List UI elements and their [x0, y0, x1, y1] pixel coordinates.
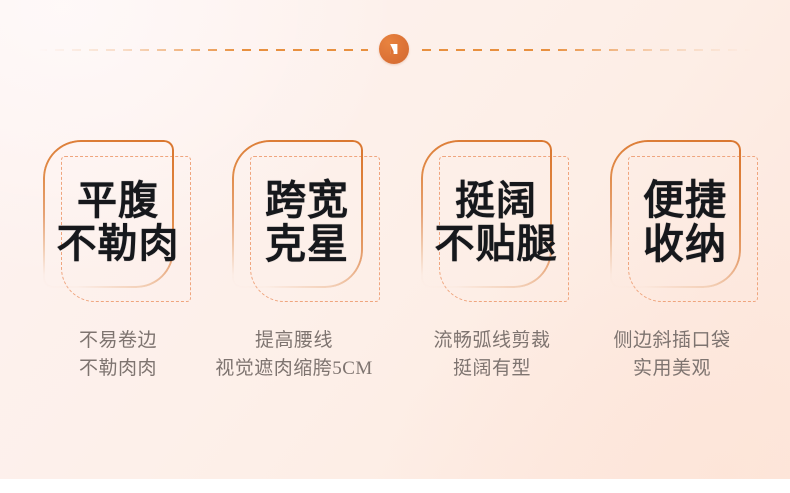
card-caption: 侧边斜插口袋 实用美观 [574, 327, 770, 383]
card-title-line-2: 克星 [265, 223, 349, 266]
feature-card: 便捷 收纳 [610, 140, 760, 305]
bottom-white-strip [0, 479, 790, 493]
card-title-line-1: 平腹 [77, 180, 159, 222]
card-caption: 提高腰线 视觉遮肉缩胯5CM [196, 327, 392, 383]
card-title: 跨宽 克星 [232, 140, 382, 305]
card-caption: 不易卷边 不勒肉肉 [20, 327, 216, 383]
caption-line-2: 不勒肉肉 [20, 355, 216, 383]
card-title: 挺阔 不贴腿 [421, 140, 571, 305]
caption-line-1: 流畅弧线剪裁 [394, 327, 590, 355]
caption-line-2: 挺阔有型 [394, 355, 590, 383]
caption-row: 不易卷边 不勒肉肉 提高腰线 视觉遮肉缩胯5CM 流畅弧线剪裁 挺阔有型 侧边斜… [0, 327, 790, 399]
caption-line-2: 实用美观 [574, 355, 770, 383]
promo-banner: 平腹 不勒肉 跨宽 克星 挺阔 不贴腿 便捷 收纳 [0, 0, 790, 493]
caption-line-1: 侧边斜插口袋 [574, 327, 770, 355]
card-title: 平腹 不勒肉 [43, 140, 193, 305]
page-fold-icon [379, 34, 409, 64]
card-title: 便捷 收纳 [610, 140, 760, 305]
divider-dash-right [422, 49, 752, 51]
caption-line-1: 不易卷边 [20, 327, 216, 355]
card-title-line-2: 不勒肉 [57, 223, 180, 265]
card-title-line-1: 挺阔 [455, 180, 537, 222]
card-title-line-1: 跨宽 [265, 179, 349, 222]
card-title-line-2: 收纳 [643, 223, 727, 266]
feature-card-row: 平腹 不勒肉 跨宽 克星 挺阔 不贴腿 便捷 收纳 [0, 140, 790, 310]
feature-card: 挺阔 不贴腿 [421, 140, 571, 305]
feature-card: 跨宽 克星 [232, 140, 382, 305]
card-caption: 流畅弧线剪裁 挺阔有型 [394, 327, 590, 383]
caption-line-2: 视觉遮肉缩胯5CM [196, 355, 392, 383]
card-title-line-1: 便捷 [643, 179, 727, 222]
card-title-line-2: 不贴腿 [435, 223, 558, 265]
feature-card: 平腹 不勒肉 [43, 140, 193, 305]
caption-line-1: 提高腰线 [196, 327, 392, 355]
divider-dash-left [38, 49, 368, 51]
